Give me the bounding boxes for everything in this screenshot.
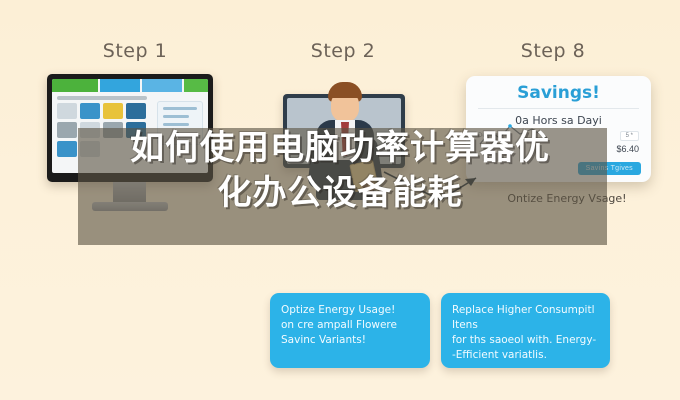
toolbar-button-2[interactable]: [100, 79, 140, 92]
step1-browser-toolbar[interactable]: [52, 79, 208, 92]
tip-1-line-1: Optize Energy Usage!: [281, 303, 419, 318]
page-title-line-1: 如何使用电脑功率计算器优: [0, 126, 680, 171]
tip-2-line-1: Replace Higher Consumpitl Itens: [452, 303, 599, 333]
tip-card-2: Replace Higher Consumpitl Itens for ths …: [441, 293, 610, 368]
side-panel-line: [163, 107, 197, 110]
page-title: 如何使用电脑功率计算器优 化办公设备能耗: [0, 126, 680, 216]
toolbar-button-1[interactable]: [52, 79, 98, 92]
step-1-label: Step 1: [80, 40, 190, 62]
infographic-canvas: Step 1: [0, 0, 680, 400]
tip-1-line-3: Savinc Variants!: [281, 333, 419, 348]
tip-1-line-2: on cre ampall Flowere: [281, 318, 419, 333]
tip-2-line-3: -Efficient variatlis.: [452, 348, 599, 363]
step-2-label: Step 2: [288, 40, 398, 62]
toolbar-button-4[interactable]: [184, 79, 208, 92]
tip-card-1: Optize Energy Usage! on cre ampall Flowe…: [270, 293, 430, 368]
step-3-label: Step 8: [498, 40, 608, 62]
person-fringe: [329, 87, 361, 98]
savings-card-title: Savings!: [466, 76, 651, 103]
product-thumb[interactable]: [80, 103, 100, 119]
tip-2-line-2: for ths saoeol with. Energy-: [452, 333, 599, 348]
card-divider: [478, 108, 639, 109]
product-thumb[interactable]: [57, 103, 77, 119]
step1-page-heading: [57, 96, 147, 100]
product-thumb[interactable]: [103, 103, 123, 119]
toolbar-button-3[interactable]: [142, 79, 182, 92]
product-thumb[interactable]: [126, 103, 146, 119]
side-panel-line: [163, 115, 189, 118]
page-title-line-2: 化办公设备能耗: [0, 171, 680, 216]
